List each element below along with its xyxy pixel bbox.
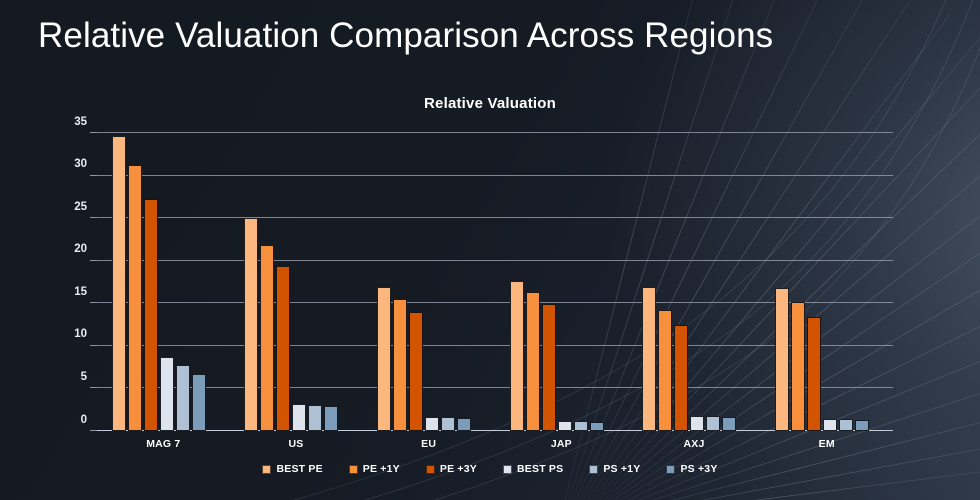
x-axis-tick-label: EM bbox=[760, 438, 893, 450]
x-axis-tick-label: AXJ bbox=[628, 438, 761, 450]
bar-group: EM bbox=[760, 133, 893, 431]
y-axis-tick-mark bbox=[90, 430, 97, 431]
bar[interactable] bbox=[706, 416, 720, 431]
legend-label: BEST PE bbox=[276, 463, 322, 475]
bar[interactable] bbox=[526, 292, 540, 431]
bar[interactable] bbox=[791, 302, 805, 431]
bar[interactable] bbox=[276, 266, 290, 431]
bar[interactable] bbox=[425, 417, 439, 431]
y-axis-tick-label: 30 bbox=[74, 158, 87, 170]
legend-swatch-icon bbox=[262, 465, 271, 474]
bar[interactable] bbox=[590, 422, 604, 431]
bars bbox=[628, 133, 761, 431]
x-axis-tick-label: JAP bbox=[495, 438, 628, 450]
legend-label: BEST PS bbox=[517, 463, 563, 475]
x-axis-tick-label: EU bbox=[362, 438, 495, 450]
x-axis-tick-label: MAG 7 bbox=[97, 438, 230, 450]
y-axis-tick-mark bbox=[90, 345, 97, 346]
legend-item[interactable]: BEST PE bbox=[262, 463, 322, 475]
y-axis-tick-mark bbox=[90, 387, 97, 388]
bar[interactable] bbox=[292, 404, 306, 431]
legend-swatch-icon bbox=[503, 465, 512, 474]
bar-group: JAP bbox=[495, 133, 628, 431]
bar[interactable] bbox=[642, 287, 656, 431]
bar[interactable] bbox=[393, 299, 407, 431]
bar[interactable] bbox=[160, 357, 174, 431]
y-axis-tick-mark bbox=[90, 132, 97, 133]
bars bbox=[495, 133, 628, 431]
x-axis-tick-label: US bbox=[230, 438, 363, 450]
y-axis-tick-label: 0 bbox=[81, 414, 87, 426]
legend-swatch-icon bbox=[426, 465, 435, 474]
bar[interactable] bbox=[260, 245, 274, 431]
chart-legend: BEST PEPE +1YPE +3YBEST PSPS +1YPS +3Y bbox=[0, 463, 980, 475]
bar[interactable] bbox=[144, 199, 158, 431]
bar[interactable] bbox=[722, 417, 736, 431]
bar[interactable] bbox=[807, 317, 821, 431]
y-axis-tick-label: 15 bbox=[74, 286, 87, 298]
bar[interactable] bbox=[839, 419, 853, 431]
legend-swatch-icon bbox=[666, 465, 675, 474]
y-axis-tick-label: 35 bbox=[74, 116, 87, 128]
bar[interactable] bbox=[176, 365, 190, 431]
plot-area[interactable]: 05101520253035 MAG 7USEUJAPAXJEM bbox=[97, 133, 893, 431]
y-axis-tick-mark bbox=[90, 260, 97, 261]
bar[interactable] bbox=[658, 310, 672, 431]
bars bbox=[97, 133, 230, 431]
bar[interactable] bbox=[542, 304, 556, 431]
legend-item[interactable]: PE +1Y bbox=[349, 463, 400, 475]
bar[interactable] bbox=[775, 288, 789, 431]
bar[interactable] bbox=[574, 421, 588, 431]
y-axis-tick-mark bbox=[90, 175, 97, 176]
bar[interactable] bbox=[558, 421, 572, 431]
bar[interactable] bbox=[690, 416, 704, 431]
legend-label: PS +1Y bbox=[603, 463, 640, 475]
bar[interactable] bbox=[510, 281, 524, 431]
bars bbox=[760, 133, 893, 431]
bar[interactable] bbox=[457, 418, 471, 431]
bar[interactable] bbox=[244, 218, 258, 431]
y-axis-tick-label: 10 bbox=[74, 328, 87, 340]
bar[interactable] bbox=[128, 165, 142, 431]
bar-groups: MAG 7USEUJAPAXJEM bbox=[97, 133, 893, 431]
legend-item[interactable]: BEST PS bbox=[503, 463, 563, 475]
legend-label: PE +3Y bbox=[440, 463, 477, 475]
bar-group: MAG 7 bbox=[97, 133, 230, 431]
bar[interactable] bbox=[855, 420, 869, 431]
chart-plot-wrapper: 05101520253035 MAG 7USEUJAPAXJEM bbox=[0, 0, 980, 500]
bar[interactable] bbox=[674, 325, 688, 431]
slide-canvas: Relative Valuation Comparison Across Reg… bbox=[0, 0, 980, 500]
bars bbox=[230, 133, 363, 431]
legend-label: PS +3Y bbox=[680, 463, 717, 475]
bar[interactable] bbox=[324, 406, 338, 431]
bar[interactable] bbox=[308, 405, 322, 431]
y-axis-tick-label: 20 bbox=[74, 243, 87, 255]
chart-title: Relative Valuation bbox=[0, 95, 980, 112]
bar[interactable] bbox=[441, 417, 455, 431]
page-title: Relative Valuation Comparison Across Reg… bbox=[38, 14, 773, 58]
bar-group: US bbox=[230, 133, 363, 431]
legend-item[interactable]: PE +3Y bbox=[426, 463, 477, 475]
bar-group: EU bbox=[362, 133, 495, 431]
legend-swatch-icon bbox=[589, 465, 598, 474]
bar[interactable] bbox=[192, 374, 206, 431]
y-axis-tick-mark bbox=[90, 217, 97, 218]
bar[interactable] bbox=[823, 419, 837, 431]
y-axis-tick-mark bbox=[90, 302, 97, 303]
bar[interactable] bbox=[409, 312, 423, 431]
bars bbox=[362, 133, 495, 431]
legend-swatch-icon bbox=[349, 465, 358, 474]
bar-group: AXJ bbox=[628, 133, 761, 431]
bar[interactable] bbox=[377, 287, 391, 431]
legend-item[interactable]: PS +3Y bbox=[666, 463, 717, 475]
bar[interactable] bbox=[112, 136, 126, 431]
y-axis-tick-label: 25 bbox=[74, 201, 87, 213]
legend-item[interactable]: PS +1Y bbox=[589, 463, 640, 475]
y-axis-tick-label: 5 bbox=[81, 371, 87, 383]
legend-label: PE +1Y bbox=[363, 463, 400, 475]
